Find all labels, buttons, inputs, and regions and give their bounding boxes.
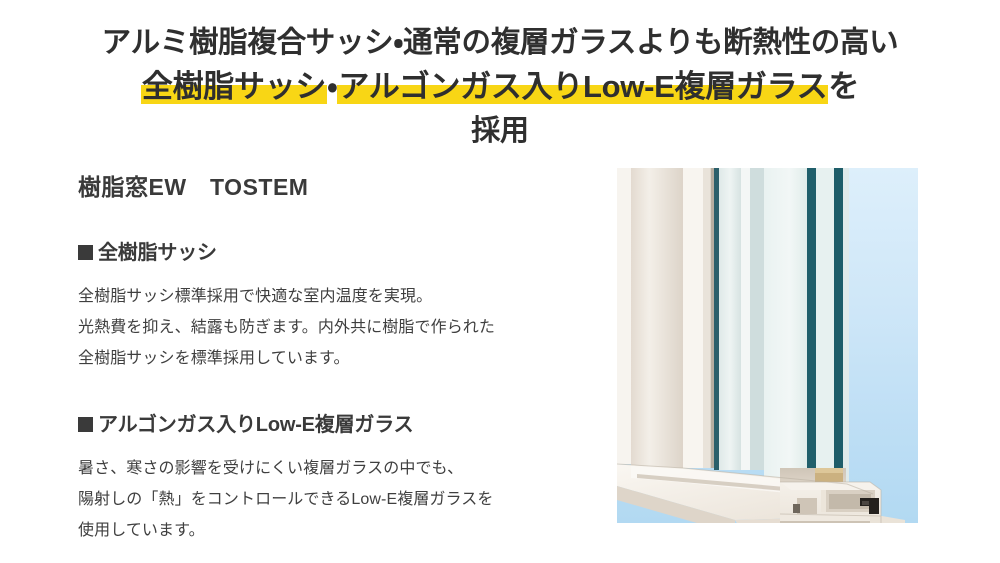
- section-all-resin-sash: 全樹脂サッシ 全樹脂サッシ標準採用で快適な室内温度を実現。 光熱費を抑え、結露も…: [78, 236, 598, 374]
- headline-highlight-2: アルゴンガス入りLow-E複層ガラス: [337, 69, 828, 104]
- section-heading: アルゴンガス入りLow-E複層ガラス: [78, 408, 598, 437]
- window-cross-section-illustration: [617, 168, 918, 523]
- headline-line-1: アルミ樹脂複合サッシ・通常の複層ガラスよりも断熱性の高い: [0, 22, 1000, 64]
- body-line: 全樹脂サッシを標準採用しています。: [78, 343, 598, 374]
- section-argon-lowe-glass: アルゴンガス入りLow-E複層ガラス 暑さ、寒さの影響を受けにくい複層ガラスの中…: [78, 408, 598, 546]
- product-title: 樹脂窓EW TOSTEM: [78, 168, 598, 202]
- body-line: 光熱費を抑え、結露も防ぎます。内外共に樹脂で作られた: [78, 312, 598, 343]
- section-heading-label: アルゴンガス入りLow-E複層ガラス: [98, 414, 413, 436]
- headline-line-2-tail: を: [828, 69, 859, 104]
- content-column: 樹脂窓EW TOSTEM 全樹脂サッシ 全樹脂サッシ標準採用で快適な室内温度を実…: [78, 168, 598, 546]
- body-line: 陽射しの「熱」をコントロールできるLow-E複層ガラスを: [78, 484, 598, 515]
- headline-separator: ・: [327, 69, 337, 104]
- headline-block: アルミ樹脂複合サッシ・通常の複層ガラスよりも断熱性の高い 全樹脂サッシ・アルゴン…: [0, 22, 1000, 152]
- section-divider-space: [78, 374, 598, 408]
- glazing-panes: [711, 168, 849, 484]
- section-heading: 全樹脂サッシ: [78, 236, 598, 265]
- section-heading-label: 全樹脂サッシ: [98, 242, 217, 264]
- window-frame-jamb: [617, 168, 711, 468]
- body-line: 全樹脂サッシ標準採用で快適な室内温度を実現。: [78, 281, 598, 312]
- square-bullet-icon: [78, 245, 93, 260]
- headline-line-2: 全樹脂サッシ・アルゴンガス入りLow-E複層ガラスを: [0, 66, 1000, 108]
- headline-highlight-1: 全樹脂サッシ: [141, 69, 327, 104]
- square-bullet-icon: [78, 417, 93, 432]
- product-photo: [617, 168, 918, 523]
- body-line: 暑さ、寒さの影響を受けにくい複層ガラスの中でも、: [78, 453, 598, 484]
- headline-line-3: 採用: [0, 110, 1000, 152]
- section-body: 全樹脂サッシ標準採用で快適な室内温度を実現。 光熱費を抑え、結露も防ぎます。内外…: [78, 281, 598, 374]
- section-body: 暑さ、寒さの影響を受けにくい複層ガラスの中でも、 陽射しの「熱」をコントロールで…: [78, 453, 598, 546]
- body-line: 使用しています。: [78, 515, 598, 546]
